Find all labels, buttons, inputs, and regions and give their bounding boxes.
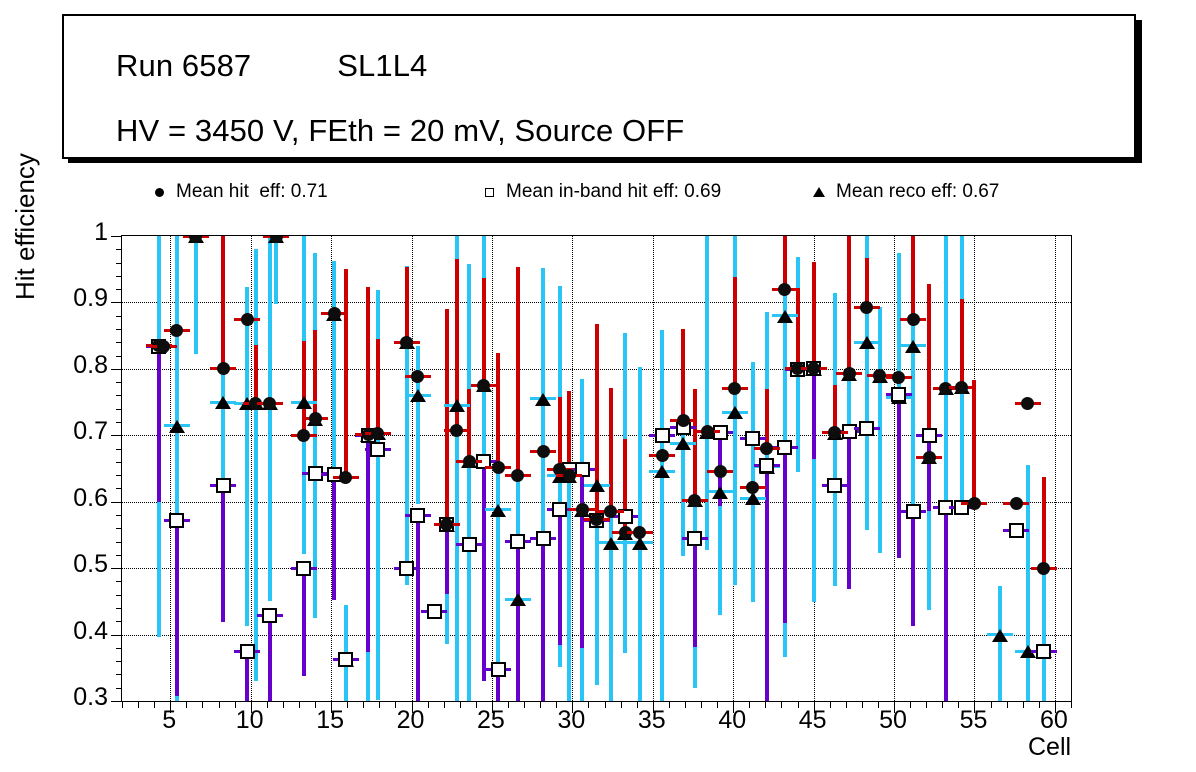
hit-error-bar	[796, 288, 800, 369]
inband-error-bar	[268, 616, 272, 701]
inband-eff-point	[296, 561, 311, 576]
hit-error-bar	[302, 341, 306, 436]
hit-eff-point	[450, 424, 463, 437]
hit-eff-point	[968, 497, 981, 510]
inband-eff-point	[399, 561, 414, 576]
y-tick	[111, 369, 122, 370]
inband-error-bar	[558, 510, 562, 645]
hit-error-bar	[376, 339, 380, 433]
hit-error-bar	[733, 277, 737, 389]
reco-error-bar	[1026, 465, 1030, 701]
hit-eff-point	[537, 445, 550, 458]
reco-error-bar	[705, 236, 709, 550]
inband-eff-point	[906, 504, 921, 519]
x-minor-tick	[524, 701, 525, 708]
inband-eff-point	[1036, 644, 1051, 659]
legend-entry-inband-hit-eff: Mean in-band hit eff: 0.69	[472, 163, 721, 221]
inband-eff-point	[338, 652, 353, 667]
x-minor-tick	[363, 701, 364, 708]
hit-error-bar	[445, 309, 449, 525]
title-box: Run 6587SL1L4 HV = 3450 V, FEth = 20 mV,…	[62, 14, 1136, 159]
hit-eff-point	[328, 307, 341, 320]
y-tick	[111, 435, 122, 436]
hit-error-bar	[812, 262, 816, 369]
inband-error-bar	[897, 395, 901, 558]
hit-error-bar	[609, 388, 613, 512]
x-minor-tick	[926, 701, 927, 708]
hit-error-bar	[482, 278, 486, 386]
hit-eff-point	[170, 324, 183, 337]
hit-eff-point	[746, 481, 759, 494]
y-tick	[111, 302, 122, 303]
x-tick-label: 5	[139, 706, 199, 735]
hit-eff-point	[1037, 562, 1050, 575]
reco-error-bar	[467, 264, 471, 701]
reco-error-bar	[833, 293, 837, 586]
hit-eff-point	[907, 313, 920, 326]
reco-eff-point	[510, 593, 526, 606]
inband-eff-point	[891, 387, 906, 402]
reco-eff-point	[727, 406, 743, 419]
inband-eff-point	[745, 431, 760, 446]
hit-eff-point	[241, 313, 254, 326]
hit-error-bar	[765, 389, 769, 449]
hit-eff-point	[860, 301, 873, 314]
legend-label-reco-eff: Mean reco eff: 0.67	[836, 181, 999, 203]
reco-error-bar	[245, 287, 249, 626]
x-minor-tick	[685, 701, 686, 708]
hit-eff-point	[923, 451, 936, 464]
inband-error-bar	[157, 347, 161, 502]
x-tick-label: 55	[943, 706, 1003, 735]
title-box-shadow-right	[1136, 20, 1142, 163]
y-tick	[111, 635, 122, 636]
hit-eff-point	[563, 469, 576, 482]
y-tick	[111, 701, 122, 702]
x-tick-label: 30	[541, 706, 601, 735]
hit-eff-point	[873, 369, 886, 382]
y-tick-label: 1	[0, 220, 108, 245]
title-run: Run 6587	[116, 48, 251, 83]
hit-error-bar	[681, 329, 685, 420]
inband-eff-point	[655, 428, 670, 443]
y-tick-label: 0.5	[0, 552, 108, 577]
x-tick-label: 60	[1024, 706, 1084, 735]
y-tick-label: 0.8	[0, 353, 108, 378]
y-tick-label: 0.9	[0, 286, 108, 311]
hit-eff-point	[492, 461, 505, 474]
reco-error-bar	[274, 236, 278, 304]
hit-eff-point	[677, 414, 690, 427]
reco-eff-point	[410, 389, 426, 402]
inband-error-bar	[416, 515, 420, 701]
hit-error-bar	[972, 380, 976, 503]
legend-entry-hit-eff: Mean hit eff: 0.71	[142, 163, 328, 221]
x-tick-label: 45	[783, 706, 843, 735]
reco-eff-point	[712, 486, 728, 499]
hit-eff-point	[371, 427, 384, 440]
reco-eff-point	[490, 504, 506, 517]
x-tick-label: 50	[863, 706, 923, 735]
y-tick-label: 0.7	[0, 419, 108, 444]
inband-eff-point	[827, 478, 842, 493]
reco-eff-point	[169, 420, 185, 433]
inband-error-bar	[927, 435, 931, 510]
inband-error-bar	[812, 369, 816, 460]
inband-error-bar	[482, 462, 486, 681]
inband-error-bar	[911, 511, 915, 626]
reco-eff-point	[589, 479, 605, 492]
open-square-icon	[472, 188, 506, 197]
hit-eff-point	[217, 362, 230, 375]
inband-error-bar	[175, 520, 179, 695]
reco-eff-point	[296, 396, 312, 409]
y-tick-label: 0.3	[0, 685, 108, 710]
x-tick-label: 15	[300, 706, 360, 735]
hit-error-bar	[496, 353, 500, 468]
hit-error-bar	[221, 236, 225, 369]
title-line-run: Run 6587SL1L4	[116, 48, 427, 84]
hit-error-bar	[405, 267, 409, 342]
x-tick-label: 35	[622, 706, 682, 735]
inband-error-bar	[366, 435, 370, 652]
reco-eff-point	[449, 399, 465, 412]
reco-error-bar	[194, 236, 198, 354]
x-minor-tick	[846, 701, 847, 708]
hit-error-bar	[865, 258, 869, 307]
x-minor-tick	[444, 701, 445, 708]
inband-eff-point	[216, 478, 231, 493]
reco-eff-point	[654, 465, 670, 478]
inband-eff-point	[240, 644, 255, 659]
hit-error-bar	[344, 269, 348, 478]
hit-error-bar	[1042, 477, 1046, 568]
inband-eff-point	[552, 502, 567, 517]
reco-error-bar	[998, 586, 1002, 701]
hit-eff-point	[714, 465, 727, 478]
inband-eff-point	[370, 442, 385, 457]
legend-entry-reco-eff: Mean reco eff: 0.67	[802, 163, 999, 221]
plot-area	[121, 235, 1072, 702]
hit-error-bar	[847, 236, 851, 374]
inband-eff-point	[169, 513, 184, 528]
hit-eff-point	[1010, 497, 1023, 510]
reco-error-bar	[416, 346, 420, 504]
y-tick	[111, 502, 122, 503]
inband-error-bar	[302, 568, 306, 675]
inband-error-bar	[445, 524, 449, 593]
hit-error-bar	[467, 389, 471, 461]
inband-error-bar	[783, 448, 787, 623]
legend-label-hit-eff: Mean hit eff: 0.71	[176, 181, 328, 203]
inband-error-bar	[580, 469, 584, 648]
x-minor-tick	[605, 701, 606, 708]
hit-eff-point	[728, 382, 741, 395]
x-minor-tick	[1007, 701, 1008, 708]
inband-eff-point	[491, 662, 506, 677]
reco-error-bar	[332, 261, 336, 475]
hit-eff-point	[400, 336, 413, 349]
x-minor-tick	[283, 701, 284, 708]
filled-circle-icon	[142, 188, 176, 197]
x-tick-label: 40	[702, 706, 762, 735]
filled-triangle-icon	[802, 187, 836, 197]
inband-eff-point	[308, 466, 323, 481]
reco-eff-point	[675, 437, 691, 450]
inband-error-bar	[693, 538, 697, 647]
reco-eff-point	[745, 492, 761, 505]
x-minor-tick	[122, 701, 123, 708]
hit-eff-point	[760, 442, 773, 455]
y-tick-label: 0.4	[0, 619, 108, 644]
x-minor-tick	[765, 701, 766, 708]
reco-eff-point	[535, 393, 551, 406]
legend: Mean hit eff: 0.71 Mean in-band hit eff:…	[122, 163, 1070, 221]
inband-eff-point	[262, 608, 277, 623]
hit-error-bar	[783, 236, 787, 289]
hit-eff-point	[511, 469, 524, 482]
reco-eff-point	[777, 310, 793, 323]
reco-eff-point	[859, 336, 875, 349]
title-superlayer: SL1L4	[337, 48, 427, 83]
hit-error-bar	[366, 287, 370, 435]
hit-eff-point	[955, 381, 968, 394]
hit-eff-point	[576, 503, 589, 516]
hit-error-bar	[516, 267, 520, 475]
hit-error-bar	[254, 345, 258, 403]
reco-error-bar	[660, 330, 664, 701]
x-axis-label: Cell	[1028, 733, 1071, 762]
reco-eff-point	[992, 629, 1008, 642]
inband-eff-point	[410, 508, 425, 523]
inband-eff-point	[427, 604, 442, 619]
y-tick	[111, 568, 122, 569]
inband-error-bar	[332, 474, 336, 599]
hit-eff-point	[157, 340, 170, 353]
reco-eff-point	[905, 340, 921, 353]
reco-eff-point	[215, 396, 231, 409]
hit-eff-point	[656, 449, 669, 462]
hit-error-bar	[911, 236, 915, 319]
hit-eff-point	[843, 367, 856, 380]
hit-error-bar	[558, 397, 562, 470]
hit-error-bar	[960, 299, 964, 387]
inband-error-bar	[516, 542, 520, 701]
inband-error-bar	[944, 507, 948, 701]
inband-eff-point	[922, 428, 937, 443]
x-minor-tick	[202, 701, 203, 708]
hit-eff-point	[339, 471, 352, 484]
y-tick	[111, 236, 122, 237]
hit-eff-point	[309, 412, 322, 425]
inband-eff-point	[759, 458, 774, 473]
inband-eff-point	[536, 531, 551, 546]
hit-eff-point	[892, 371, 905, 384]
legend-label-inband-hit-eff: Mean in-band hit eff: 0.69	[506, 181, 721, 203]
inband-eff-point	[462, 537, 477, 552]
hit-error-bar	[313, 330, 317, 419]
inband-eff-point	[1009, 523, 1024, 538]
title-conditions: HV = 3450 V, FEth = 20 mV, Source OFF	[116, 113, 684, 149]
x-tick-label: 10	[220, 706, 280, 735]
hit-eff-point	[463, 455, 476, 468]
hit-eff-point	[411, 370, 424, 383]
hit-eff-point	[688, 494, 701, 507]
hit-eff-point	[778, 283, 791, 296]
inband-error-bar	[765, 466, 769, 701]
inband-error-bar	[541, 538, 545, 701]
hit-eff-point	[297, 429, 310, 442]
inband-error-bar	[221, 485, 225, 622]
x-tick-label: 25	[461, 706, 521, 735]
data-layer	[122, 236, 1071, 701]
hit-eff-point	[1021, 397, 1034, 410]
inband-eff-point	[510, 534, 525, 549]
x-tick-label: 20	[381, 706, 441, 735]
reco-error-bar	[268, 236, 272, 601]
inband-error-bar	[847, 431, 851, 588]
inband-eff-point	[859, 421, 874, 436]
y-tick-label: 0.6	[0, 486, 108, 511]
inband-eff-point	[687, 531, 702, 546]
